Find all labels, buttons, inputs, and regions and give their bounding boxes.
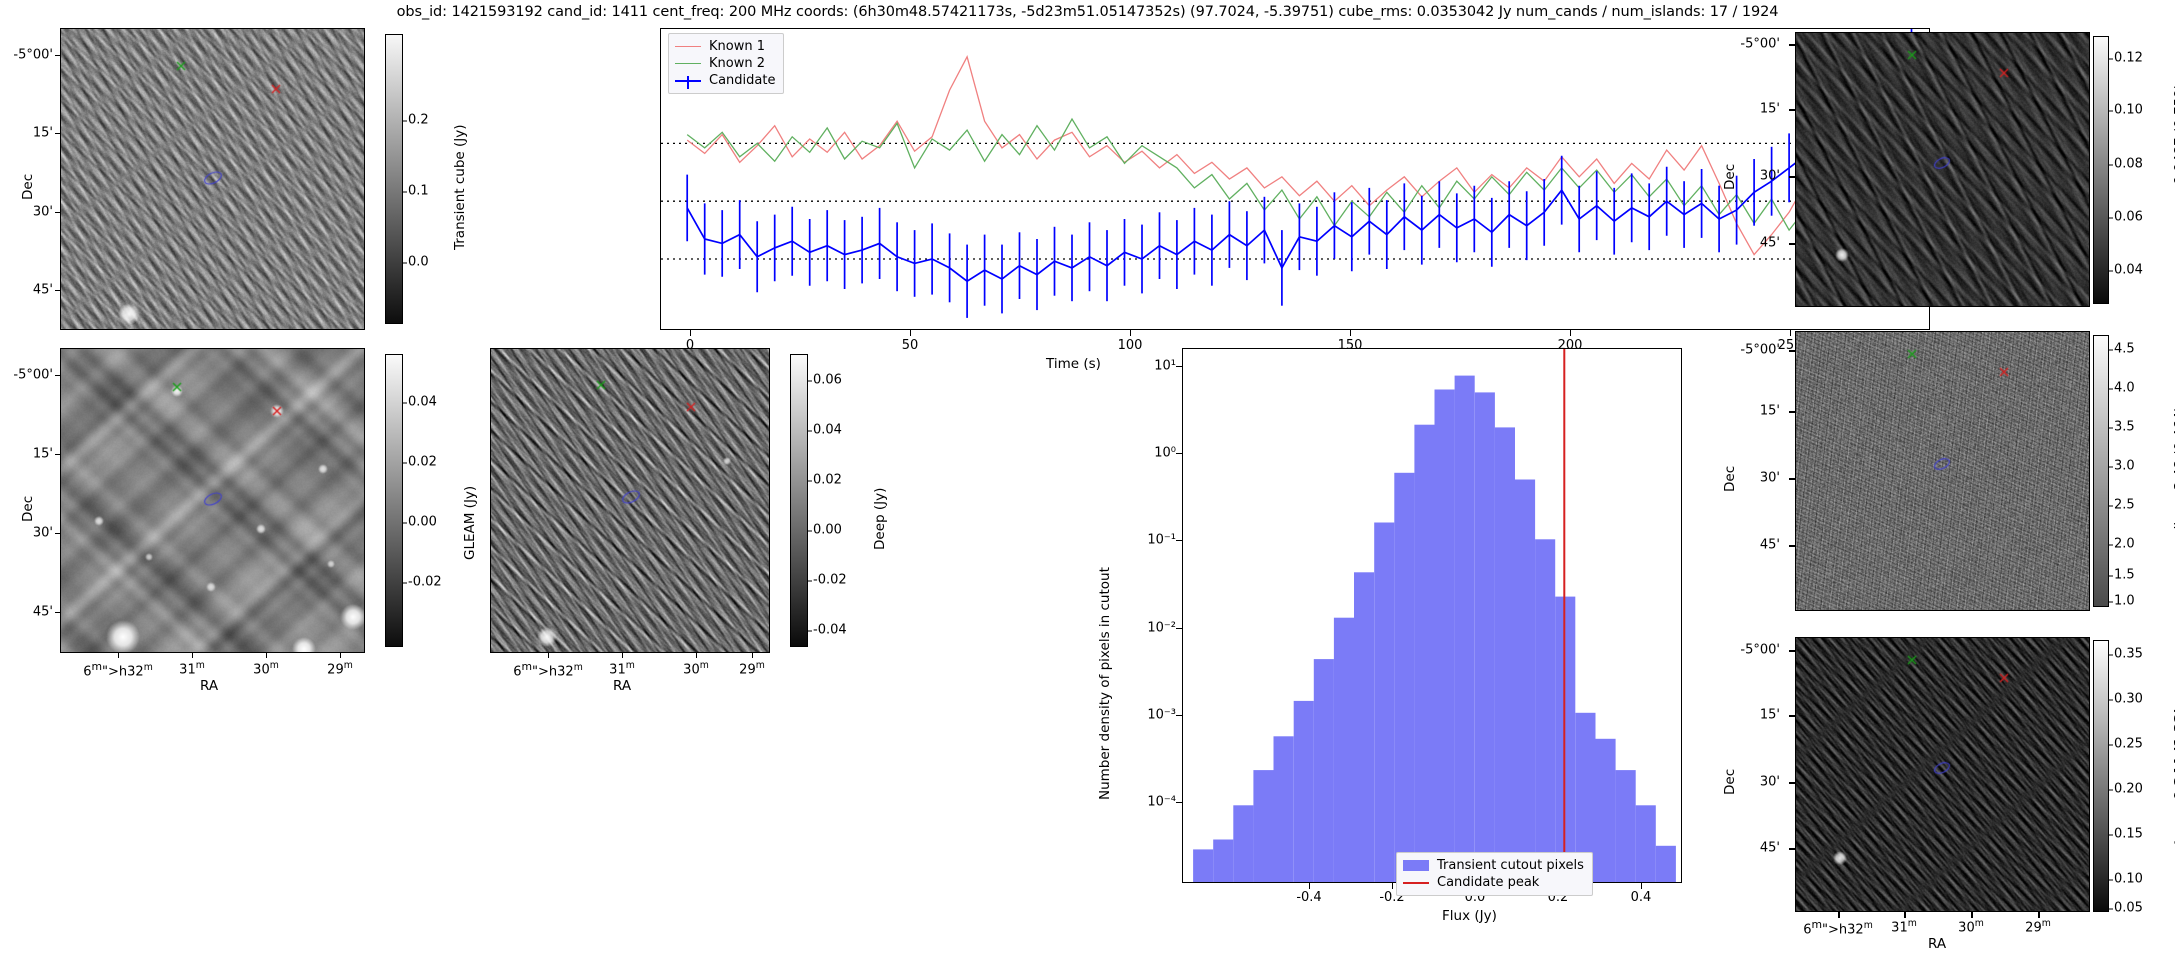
tick-dec-3: 45': [1730, 538, 1780, 553]
tickmark: [1789, 545, 1795, 547]
legend-item-candidate: Candidate: [675, 72, 775, 89]
tick-hist-y-5: 10⁻⁴: [1118, 795, 1176, 810]
tick-hist-y-4: 10⁻³: [1118, 708, 1176, 723]
colorbar-gradient: [385, 354, 403, 647]
tickmark: [1789, 478, 1795, 480]
tick-hist-x-0: -0.4: [1296, 890, 1321, 905]
tick-dec-2: 30': [8, 205, 53, 220]
tickmark: [118, 653, 119, 658]
tickmark: [1838, 912, 1840, 918]
tick-hist-y-0: 10¹: [1118, 359, 1176, 374]
tick-dec-3: 45': [8, 283, 53, 298]
cbar-tick: 0.04: [813, 423, 842, 438]
tickmark: [55, 375, 60, 376]
colorbar-gradient: [385, 34, 403, 324]
legend-label: Known 2: [709, 56, 765, 71]
axis-label-ra: RA: [1928, 936, 1946, 952]
tickmark: [1350, 330, 1351, 336]
legend-label: Transient cutout pixels: [1437, 858, 1584, 873]
tickmark: [55, 55, 60, 56]
legend-label: Known 1: [709, 39, 765, 54]
axis-label-flux: Flux (Jy): [1442, 908, 1497, 924]
tickmark: [55, 290, 60, 291]
tickmark: [1789, 350, 1795, 352]
tickmark: [1130, 330, 1131, 336]
legend-label: Candidate: [709, 73, 775, 88]
legend-errorbar-candidate: [675, 80, 701, 82]
tick-ra-1: 31m: [609, 660, 635, 677]
cbar-tick: 0.00: [408, 515, 437, 530]
tickmark: [1904, 912, 1906, 918]
tickmark: [266, 653, 267, 658]
cbar-tick: 0.30: [2114, 692, 2143, 707]
tick-dec-0: -5°00': [8, 48, 53, 63]
legend-item-known2: Known 2: [675, 55, 775, 72]
tick-hist-x-4: 0.4: [1631, 890, 1652, 905]
cbar-tick: 0.2: [408, 113, 429, 128]
histogram-axes[interactable]: [1182, 348, 1682, 883]
tickmark: [1789, 782, 1795, 784]
tick-ra-3: 29m: [739, 660, 765, 677]
tick-ra-0: 6m">h32m: [83, 660, 153, 679]
tickmark: [1176, 540, 1182, 541]
axis-label-dec: Dec: [1722, 769, 1738, 795]
tickmark: [55, 133, 60, 134]
tick-dec-3: 45': [1730, 841, 1780, 856]
tickmark: [696, 653, 697, 658]
tickmark: [192, 653, 193, 658]
spike-image-full[interactable]: [1795, 331, 2090, 611]
tickmark: [2038, 912, 2040, 918]
tickmark: [1789, 44, 1795, 46]
tickmark: [1789, 109, 1795, 111]
tick-hist-y-2: 10⁻¹: [1118, 533, 1176, 548]
tickmark: [1176, 802, 1182, 803]
tickmark: [1789, 176, 1795, 178]
cbar-tick: 0.1: [408, 184, 429, 199]
tick-dec-1: 15': [1730, 708, 1780, 723]
tickmark: [55, 212, 60, 213]
cbar-tick: -0.02: [813, 573, 847, 588]
rms-image[interactable]: [1795, 32, 2090, 307]
tick-dec-1: 15': [8, 447, 53, 462]
tick-dec-3: 45': [8, 605, 53, 620]
tickmark: [1641, 883, 1642, 889]
tickmark: [1789, 243, 1795, 245]
tickmark: [1570, 330, 1571, 336]
tickmark: [1392, 883, 1393, 889]
gleam-image[interactable]: [60, 348, 365, 653]
tickmark: [622, 653, 623, 658]
tick-ra-0: 6m">h32m: [513, 660, 583, 679]
tickmark: [548, 653, 549, 658]
cbar-tick: 0.15: [2114, 827, 2143, 842]
cbar-tick: 4.5: [2114, 342, 2135, 357]
axis-label-time: Time (s): [1046, 356, 1101, 372]
tick-dec-0: -5°00': [8, 368, 53, 383]
tick-ra-2: 30m: [253, 660, 279, 677]
cbar-tick: 0.35: [2114, 647, 2143, 662]
axis-label-dec: Dec: [1722, 164, 1738, 190]
cbar-tick: 0.04: [408, 395, 437, 410]
cbar-tick: 0.10: [2114, 103, 2143, 118]
tcg-image[interactable]: [1795, 637, 2090, 912]
tick-dec-0: -5°00': [1730, 643, 1780, 658]
tickmark: [1789, 715, 1795, 717]
transient-cube-image[interactable]: [60, 28, 365, 330]
tick-dec-1: 15': [1730, 102, 1780, 117]
tickmark: [340, 653, 341, 658]
colorbar-label: Transient cube (Jy): [452, 124, 468, 250]
tickmark: [55, 454, 60, 455]
legend-item-cutout-pixels: Transient cutout pixels: [1403, 857, 1584, 874]
tick-hist-y-1: 10⁰: [1118, 446, 1176, 461]
tickmark: [1789, 411, 1795, 413]
legend-line-known1: [675, 46, 701, 47]
tickmark: [55, 533, 60, 534]
cbar-tick: 4.0: [2114, 381, 2135, 396]
tick-ra-3: 29m: [2025, 918, 2051, 935]
tick-dec-0: -5°00': [1730, 343, 1780, 358]
cbar-tick: 0.04: [2114, 263, 2143, 278]
tickmark: [690, 330, 691, 336]
cbar-tick: 0.0: [408, 255, 429, 270]
tickmark: [910, 330, 911, 336]
cbar-tick: 0.05: [2114, 901, 2143, 916]
tick-ra-0: 6m">h32m: [1803, 918, 1873, 937]
axis-label-dec: Dec: [1722, 466, 1738, 492]
cbar-tick: 0.02: [813, 473, 842, 488]
cbar-tick: 0.06: [2114, 210, 2143, 225]
axis-label-hist-y: Number density of pixels in cutout: [1097, 567, 1113, 800]
cbar-tick: -0.02: [408, 575, 442, 590]
legend-swatch-cutout: [1403, 860, 1429, 871]
cbar-tick: 0.10: [2114, 872, 2143, 887]
lightcurve-legend[interactable]: Known 1 Known 2 Candidate: [668, 33, 784, 94]
tickmark: [1790, 330, 1791, 336]
tick-ra-2: 30m: [683, 660, 709, 677]
cbar-tick: 3.0: [2114, 459, 2135, 474]
legend-line-candidate-peak: [1403, 882, 1429, 884]
colorbar-gradient: [2093, 640, 2109, 912]
tick-dec-1: 15': [8, 126, 53, 141]
tick-ra-1: 31m: [179, 660, 205, 677]
cbar-tick: 3.5: [2114, 420, 2135, 435]
cbar-tick: 0.00: [813, 523, 842, 538]
axis-label-ra: RA: [613, 678, 631, 694]
tick-hist-y-3: 10⁻²: [1118, 621, 1176, 636]
tick-dec-3: 45': [1730, 236, 1780, 251]
cbar-tick: 0.20: [2114, 782, 2143, 797]
tickmark: [1176, 453, 1182, 454]
tick-dec-2: 30': [8, 526, 53, 541]
tickmark: [1971, 912, 1973, 918]
tickmark: [1176, 366, 1182, 367]
colorbar-label: GLEAM (Jy): [462, 486, 478, 560]
tick-time-2: 100: [1118, 338, 1143, 353]
axis-label-dec: Dec: [20, 496, 36, 522]
tickmark: [752, 653, 753, 658]
tickmark: [1309, 883, 1310, 889]
colorbar-gradient: [2093, 335, 2109, 607]
cbar-tick: 1.5: [2114, 568, 2135, 583]
tick-time-1: 50: [902, 338, 919, 353]
cbar-tick: -0.04: [813, 623, 847, 638]
tickmark: [1176, 715, 1182, 716]
colorbar-label: Deep (Jy): [872, 488, 888, 550]
cbar-tick: 0.02: [408, 455, 437, 470]
tickmark: [1789, 650, 1795, 652]
figure-suptitle: obs_id: 1421593192 cand_id: 1411 cent_fr…: [0, 4, 2175, 20]
tickmark: [55, 612, 60, 613]
tick-ra-3: 29m: [327, 660, 353, 677]
tickmark: [1789, 848, 1795, 850]
colorbar-gradient: [790, 354, 808, 647]
tick-ra-1: 31m: [1891, 918, 1917, 935]
cbar-tick: 0.08: [2114, 157, 2143, 172]
tick-dec-1: 15': [1730, 404, 1780, 419]
cbar-tick: 0.25: [2114, 737, 2143, 752]
histogram-legend[interactable]: Transient cutout pixels Candidate peak: [1396, 852, 1593, 896]
tick-dec-0: -5°00': [1730, 37, 1780, 52]
axis-label-ra: RA: [200, 678, 218, 694]
colorbar-gradient: [2093, 36, 2109, 304]
cbar-tick: 0.12: [2114, 51, 2143, 66]
tick-ra-2: 30m: [1958, 918, 1984, 935]
cbar-tick: 2.0: [2114, 537, 2135, 552]
legend-item-known1: Known 1: [675, 38, 775, 55]
cbar-tick: 1.0: [2114, 594, 2135, 609]
cbar-tick: 2.5: [2114, 498, 2135, 513]
legend-line-known2: [675, 63, 701, 64]
cbar-tick: 0.06: [813, 373, 842, 388]
legend-item-candidate-peak: Candidate peak: [1403, 874, 1584, 891]
tickmark: [1176, 628, 1182, 629]
deep-image[interactable]: [490, 348, 770, 653]
legend-label: Candidate peak: [1437, 875, 1539, 890]
axis-label-dec: Dec: [20, 174, 36, 200]
